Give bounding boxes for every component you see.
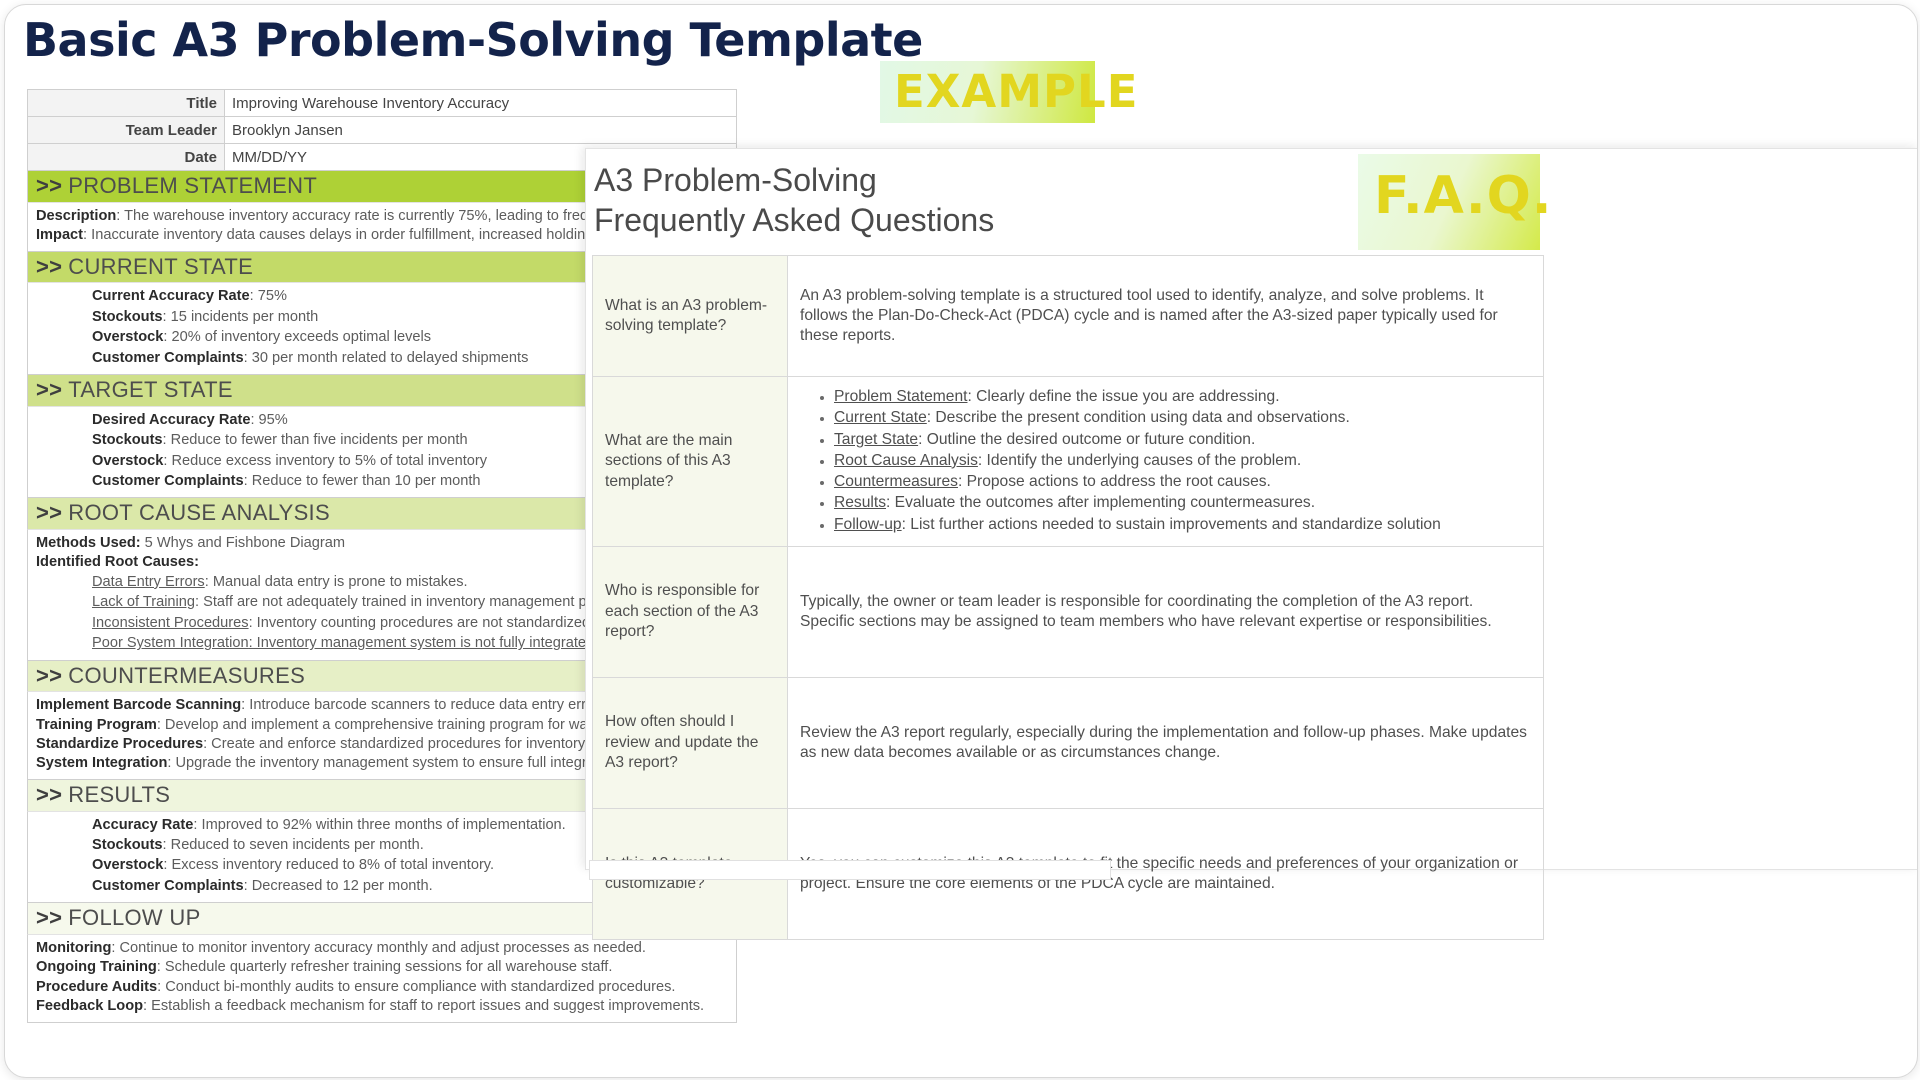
faq-question: Who is responsible for each section of t… bbox=[593, 546, 788, 677]
item-value: : 30 per month related to delayed shipme… bbox=[244, 350, 529, 366]
methods-label: Methods Used: bbox=[36, 535, 141, 551]
item-label: Customer Complaints bbox=[92, 878, 244, 894]
faq-table: What is an A3 problem-solving template? … bbox=[592, 255, 1544, 940]
item-label: Implement Barcode Scanning bbox=[36, 697, 241, 713]
bullet-text: : Propose actions to address the root ca… bbox=[958, 473, 1271, 490]
table-row: Title Improving Warehouse Inventory Accu… bbox=[28, 90, 737, 117]
faq-answer: Typically, the owner or team leader is r… bbox=[788, 546, 1544, 677]
bullet-text: : Clearly define the issue you are addre… bbox=[967, 388, 1279, 405]
chevron-icon: >> bbox=[36, 500, 62, 525]
section-title: TARGET STATE bbox=[68, 377, 233, 402]
faq-heading-line1: A3 Problem-Solving bbox=[594, 161, 994, 201]
bullet-term: Follow-up bbox=[834, 516, 902, 533]
item-value: : Upgrade the inventory management syste… bbox=[167, 755, 622, 771]
faq-heading: A3 Problem-Solving Frequently Asked Ques… bbox=[594, 161, 994, 240]
item-label: Stockouts bbox=[92, 837, 163, 853]
bullet-text: : List further actions needed to sustain… bbox=[902, 516, 1441, 533]
item-label: System Integration bbox=[36, 755, 167, 771]
item-label: Stockouts bbox=[92, 309, 163, 325]
item-value: : Continue to monitor inventory accuracy… bbox=[111, 940, 646, 956]
list-item: Target State: Outline the desired outcom… bbox=[834, 430, 1531, 450]
section-title: CURRENT STATE bbox=[68, 254, 253, 279]
chevron-icon: >> bbox=[36, 173, 62, 198]
item-value: : 20% of inventory exceeds optimal level… bbox=[163, 329, 431, 345]
item-label: Data Entry Errors bbox=[92, 574, 205, 590]
item-value: : Decreased to 12 per month. bbox=[244, 878, 433, 894]
item-value: : Improved to 92% within three months of… bbox=[193, 817, 565, 833]
item-label: Overstock bbox=[92, 857, 163, 873]
item-value: : Excess inventory reduced to 8% of tota… bbox=[163, 857, 494, 873]
list-item: Results: Evaluate the outcomes after imp… bbox=[834, 493, 1531, 513]
root-causes-label: Identified Root Causes: bbox=[36, 554, 199, 570]
item-value: : Conduct bi-monthly audits to ensure co… bbox=[157, 979, 675, 995]
bullet-term: Target State bbox=[834, 431, 918, 448]
description-label: Description bbox=[36, 208, 116, 224]
bullet-term: Problem Statement bbox=[834, 388, 967, 405]
meta-value-team-leader[interactable]: Brooklyn Jansen bbox=[225, 117, 737, 144]
bullet-text: : Describe the present condition using d… bbox=[927, 409, 1350, 426]
item-label: Lack of Training bbox=[92, 594, 195, 610]
item-value: : Reduce to fewer than 10 per month bbox=[244, 473, 481, 489]
item-value: : Reduced to seven incidents per month. bbox=[163, 837, 424, 853]
section-title: RESULTS bbox=[68, 782, 170, 807]
faq-question: What is an A3 problem-solving template? bbox=[593, 256, 788, 377]
faq-badge: F.A.Q. bbox=[1358, 154, 1540, 250]
bullet-text: : Identify the underlying causes of the … bbox=[978, 452, 1301, 469]
item-label: Poor System Integration bbox=[92, 635, 249, 651]
meta-label-team-leader: Team Leader bbox=[28, 117, 225, 144]
bullet-term: Root Cause Analysis bbox=[834, 452, 978, 469]
chevron-icon: >> bbox=[36, 663, 62, 688]
meta-label-title: Title bbox=[28, 90, 225, 117]
item-label: Procedure Audits bbox=[36, 979, 157, 995]
meta-value-title[interactable]: Improving Warehouse Inventory Accuracy bbox=[225, 90, 737, 117]
item-label: Ongoing Training bbox=[36, 959, 157, 975]
faq-table-wrapper: What is an A3 problem-solving template? … bbox=[592, 255, 1544, 940]
item-label: Customer Complaints bbox=[92, 350, 244, 366]
item-value: : Create and enforce standardized proced… bbox=[203, 736, 648, 752]
item-label: Desired Accuracy Rate bbox=[92, 412, 250, 428]
table-row: What is an A3 problem-solving template? … bbox=[593, 256, 1544, 377]
item-value: : 15 incidents per month bbox=[163, 309, 319, 325]
item-value: : Manual data entry is prone to mistakes… bbox=[205, 574, 468, 590]
item-value: : Schedule quarterly refresher training … bbox=[157, 959, 613, 975]
item-value: : Introduce barcode scanners to reduce d… bbox=[241, 697, 610, 713]
faq-answer: An A3 problem-solving template is a stru… bbox=[788, 256, 1544, 377]
item-label: Overstock bbox=[92, 329, 163, 345]
item-value: : Reduce to fewer than five incidents pe… bbox=[163, 432, 468, 448]
section-title: FOLLOW UP bbox=[68, 905, 200, 930]
list-item: Current State: Describe the present cond… bbox=[834, 408, 1531, 428]
table-row: How often should I review and update the… bbox=[593, 677, 1544, 808]
table-row: Who is responsible for each section of t… bbox=[593, 546, 1544, 677]
list-item: Problem Statement: Clearly define the is… bbox=[834, 387, 1531, 407]
chevron-icon: >> bbox=[36, 377, 62, 402]
item-value: : Reduce excess inventory to 5% of total… bbox=[163, 453, 487, 469]
bullet-term: Countermeasures bbox=[834, 473, 958, 490]
section-title: COUNTERMEASURES bbox=[68, 663, 305, 688]
chevron-icon: >> bbox=[36, 905, 62, 930]
item-label: Inconsistent Procedures bbox=[92, 615, 249, 631]
section-title: PROBLEM STATEMENT bbox=[68, 173, 317, 198]
faq-question: What are the main sections of this A3 te… bbox=[593, 377, 788, 547]
table-row: Team Leader Brooklyn Jansen bbox=[28, 117, 737, 144]
list-item: Follow-up: List further actions needed t… bbox=[834, 515, 1531, 535]
item-label: Training Program bbox=[36, 717, 157, 733]
item-value: : 75% bbox=[250, 288, 287, 304]
faq-answer: Review the A3 report regularly, especial… bbox=[788, 677, 1544, 808]
faq-badge-label: F.A.Q. bbox=[1374, 166, 1553, 226]
page-title: Basic A3 Problem-Solving Template bbox=[23, 13, 923, 67]
item-label: Overstock bbox=[92, 453, 163, 469]
bullet-term: Current State bbox=[834, 409, 927, 426]
scroll-strip[interactable] bbox=[589, 860, 1111, 880]
item-label: Accuracy Rate bbox=[92, 817, 193, 833]
faq-heading-line2: Frequently Asked Questions bbox=[594, 201, 994, 241]
example-badge: EXAMPLE bbox=[880, 61, 1095, 123]
section-body-follow-up: Monitoring: Continue to monitor inventor… bbox=[27, 935, 737, 1023]
faq-question: How often should I review and update the… bbox=[593, 677, 788, 808]
item-label: Customer Complaints bbox=[92, 473, 244, 489]
section-title: ROOT CAUSE ANALYSIS bbox=[68, 500, 330, 525]
chevron-icon: >> bbox=[36, 254, 62, 279]
chevron-icon: >> bbox=[36, 782, 62, 807]
impact-label: Impact bbox=[36, 227, 83, 243]
bullet-text: : Evaluate the outcomes after implementi… bbox=[886, 494, 1315, 511]
bullet-text: : Outline the desired outcome or future … bbox=[918, 431, 1255, 448]
item-value: : Staff are not adequately trained in in… bbox=[195, 594, 641, 610]
item-label: Stockouts bbox=[92, 432, 163, 448]
example-badge-label: EXAMPLE bbox=[894, 65, 1138, 118]
methods-value: 5 Whys and Fishbone Diagram bbox=[141, 535, 345, 551]
item-value: : Establish a feedback mechanism for sta… bbox=[143, 998, 704, 1014]
table-row: What are the main sections of this A3 te… bbox=[593, 377, 1544, 547]
item-label: Current Accuracy Rate bbox=[92, 288, 250, 304]
item-label: Standardize Procedures bbox=[36, 736, 203, 752]
bullet-term: Results bbox=[834, 494, 886, 511]
faq-panel: A3 Problem-Solving Frequently Asked Ques… bbox=[585, 148, 1918, 870]
item-label: Feedback Loop bbox=[36, 998, 143, 1014]
item-value: : Inventory counting procedures are not … bbox=[249, 615, 595, 631]
faq-answer-bullets: Problem Statement: Clearly define the is… bbox=[788, 377, 1544, 547]
list-item: Root Cause Analysis: Identify the underl… bbox=[834, 451, 1531, 471]
item-value: : 95% bbox=[250, 412, 287, 428]
meta-label-date: Date bbox=[28, 144, 225, 171]
item-label: Monitoring bbox=[36, 940, 111, 956]
page-card: Basic A3 Problem-Solving Template Title … bbox=[4, 4, 1918, 1078]
list-item: Countermeasures: Propose actions to addr… bbox=[834, 472, 1531, 492]
